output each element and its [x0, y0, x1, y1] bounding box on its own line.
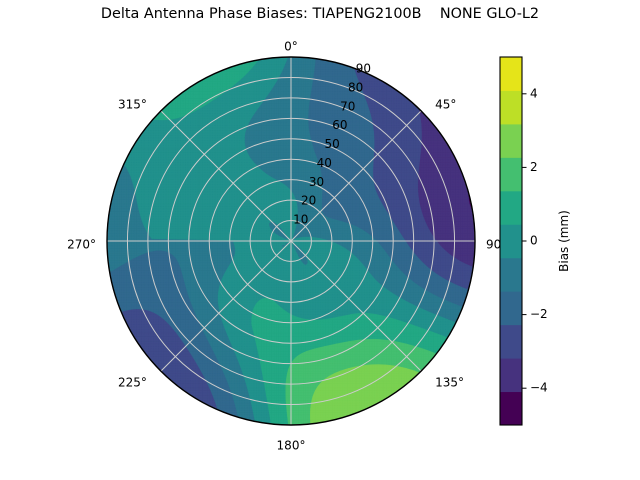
radial-tick-label: 20 [301, 194, 316, 208]
azimuth-tick-label: 315° [118, 97, 147, 111]
azimuth-tick-label: 45° [435, 97, 456, 111]
colorbar-tick-label: 4 [530, 86, 538, 100]
polar-grid-layer [107, 57, 475, 425]
colorbar-band [500, 224, 522, 258]
colorbar-band [500, 191, 522, 225]
colorbar-axis-label: Bias (mm) [557, 210, 571, 272]
colorbar-tick-label: −4 [530, 381, 548, 395]
radial-tick-label: 40 [317, 156, 332, 170]
colorbar-band [500, 358, 522, 392]
radial-tick-label: 10 [293, 213, 308, 227]
radial-tick-label: 50 [324, 137, 339, 151]
azimuth-tick-label: 90 [486, 238, 501, 252]
polar-contour-plot: 0°45°90135°180°225°270°315° 102030405060… [0, 0, 640, 480]
colorbar-band [500, 258, 522, 292]
colorbar-tick-label: 2 [530, 160, 538, 174]
radial-tick-label: 80 [348, 80, 363, 94]
colorbar-band [500, 325, 522, 359]
colorbar-band [500, 124, 522, 158]
colorbar-band [500, 90, 522, 124]
colorbar-band [500, 157, 522, 191]
figure-canvas: Delta Antenna Phase Biases: TIAPENG2100B… [0, 0, 640, 480]
azimuth-tick-label: 135° [435, 376, 464, 390]
radial-tick-label: 30 [309, 175, 324, 189]
colorbar-band [500, 57, 522, 91]
azimuth-tick-label: 0° [284, 40, 298, 54]
colorbar: −4−2024Bias (mm) [500, 57, 571, 426]
colorbar-tick-label: −2 [530, 307, 548, 321]
colorbar-band [500, 291, 522, 325]
radial-tick-label: 90 [356, 62, 371, 76]
colorbar-band [500, 392, 522, 426]
azimuth-tick-label: 180° [277, 439, 306, 453]
radial-tick-label: 70 [340, 99, 355, 113]
colorbar-tick-label: 0 [530, 234, 538, 248]
azimuth-tick-label: 225° [118, 376, 147, 390]
azimuth-tick-label: 270° [67, 238, 96, 252]
radial-tick-label: 60 [332, 118, 347, 132]
